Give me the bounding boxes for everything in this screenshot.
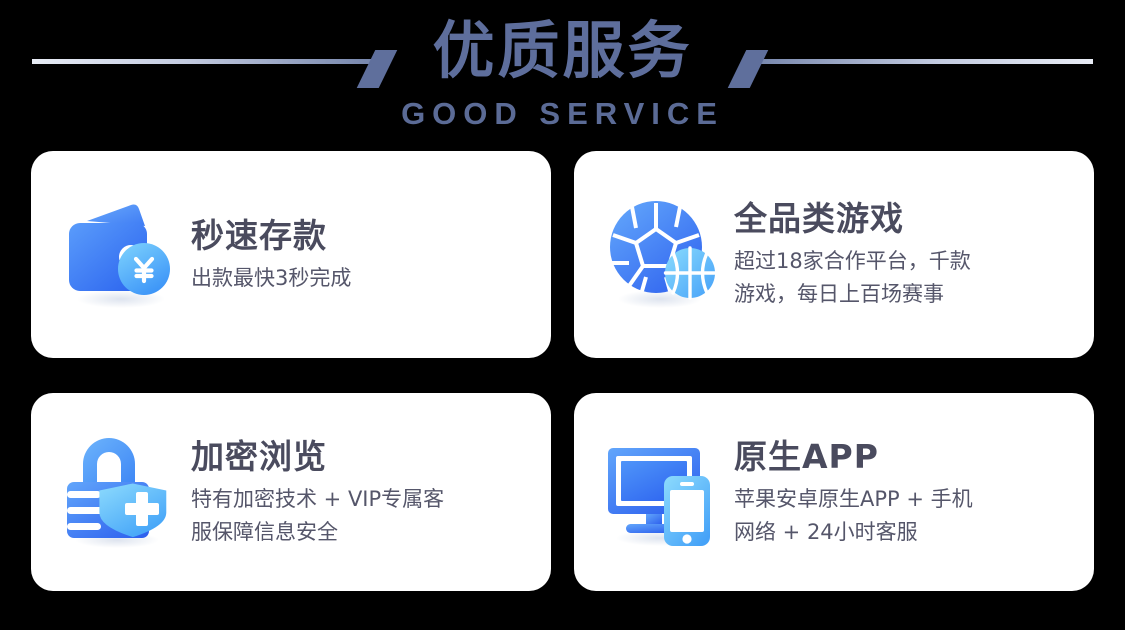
card-subtitle-line: 特有加密技术 + VIP专属客	[191, 483, 444, 516]
card-subtitle-line: 苹果安卓原生APP + 手机	[734, 483, 973, 516]
card-subtitle-line: 游戏，每日上百场赛事	[734, 278, 971, 311]
page-header: 优质服务 GOOD SERVICE	[0, 0, 1125, 146]
feature-card-text: 加密浏览 特有加密技术 + VIP专属客 服保障信息安全	[191, 436, 444, 549]
monitor-with-phone-icon	[602, 430, 726, 554]
card-title: 加密浏览	[191, 436, 444, 478]
soccer-ball-with-basketball-icon	[602, 193, 726, 317]
feature-card-text: 全品类游戏 超过18家合作平台，千款 游戏，每日上百场赛事	[734, 198, 971, 311]
feature-card-text: 秒速存款 出款最快3秒完成	[191, 215, 351, 295]
page-subtitle: GOOD SERVICE	[0, 96, 1125, 132]
card-subtitle-line: 服保障信息安全	[191, 516, 444, 549]
card-subtitle-line: 超过18家合作平台，千款	[734, 245, 971, 278]
card-subtitle-line: 网络 + 24小时客服	[734, 516, 973, 549]
card-title: 秒速存款	[191, 215, 351, 257]
card-subtitle-line: 出款最快3秒完成	[191, 262, 351, 295]
card-subtitle: 出款最快3秒完成	[191, 262, 351, 295]
feature-card-grid: 秒速存款 出款最快3秒完成	[31, 151, 1094, 591]
wallet-with-yuan-coin-icon	[59, 193, 183, 317]
card-title: 全品类游戏	[734, 198, 971, 240]
feature-card-all-games[interactable]: 全品类游戏 超过18家合作平台，千款 游戏，每日上百场赛事	[574, 151, 1094, 358]
feature-card-text: 原生APP 苹果安卓原生APP + 手机 网络 + 24小时客服	[734, 436, 973, 549]
card-subtitle: 超过18家合作平台，千款 游戏，每日上百场赛事	[734, 245, 971, 311]
padlock-with-shield-plus-icon	[59, 430, 183, 554]
card-subtitle: 特有加密技术 + VIP专属客 服保障信息安全	[191, 483, 444, 549]
feature-card-native-app[interactable]: 原生APP 苹果安卓原生APP + 手机 网络 + 24小时客服	[574, 393, 1094, 591]
card-title: 原生APP	[734, 436, 973, 478]
feature-card-encrypted-browsing[interactable]: 加密浏览 特有加密技术 + VIP专属客 服保障信息安全	[31, 393, 551, 591]
card-subtitle: 苹果安卓原生APP + 手机 网络 + 24小时客服	[734, 483, 973, 549]
feature-card-instant-deposit[interactable]: 秒速存款 出款最快3秒完成	[31, 151, 551, 358]
page-title: 优质服务	[0, 8, 1125, 94]
